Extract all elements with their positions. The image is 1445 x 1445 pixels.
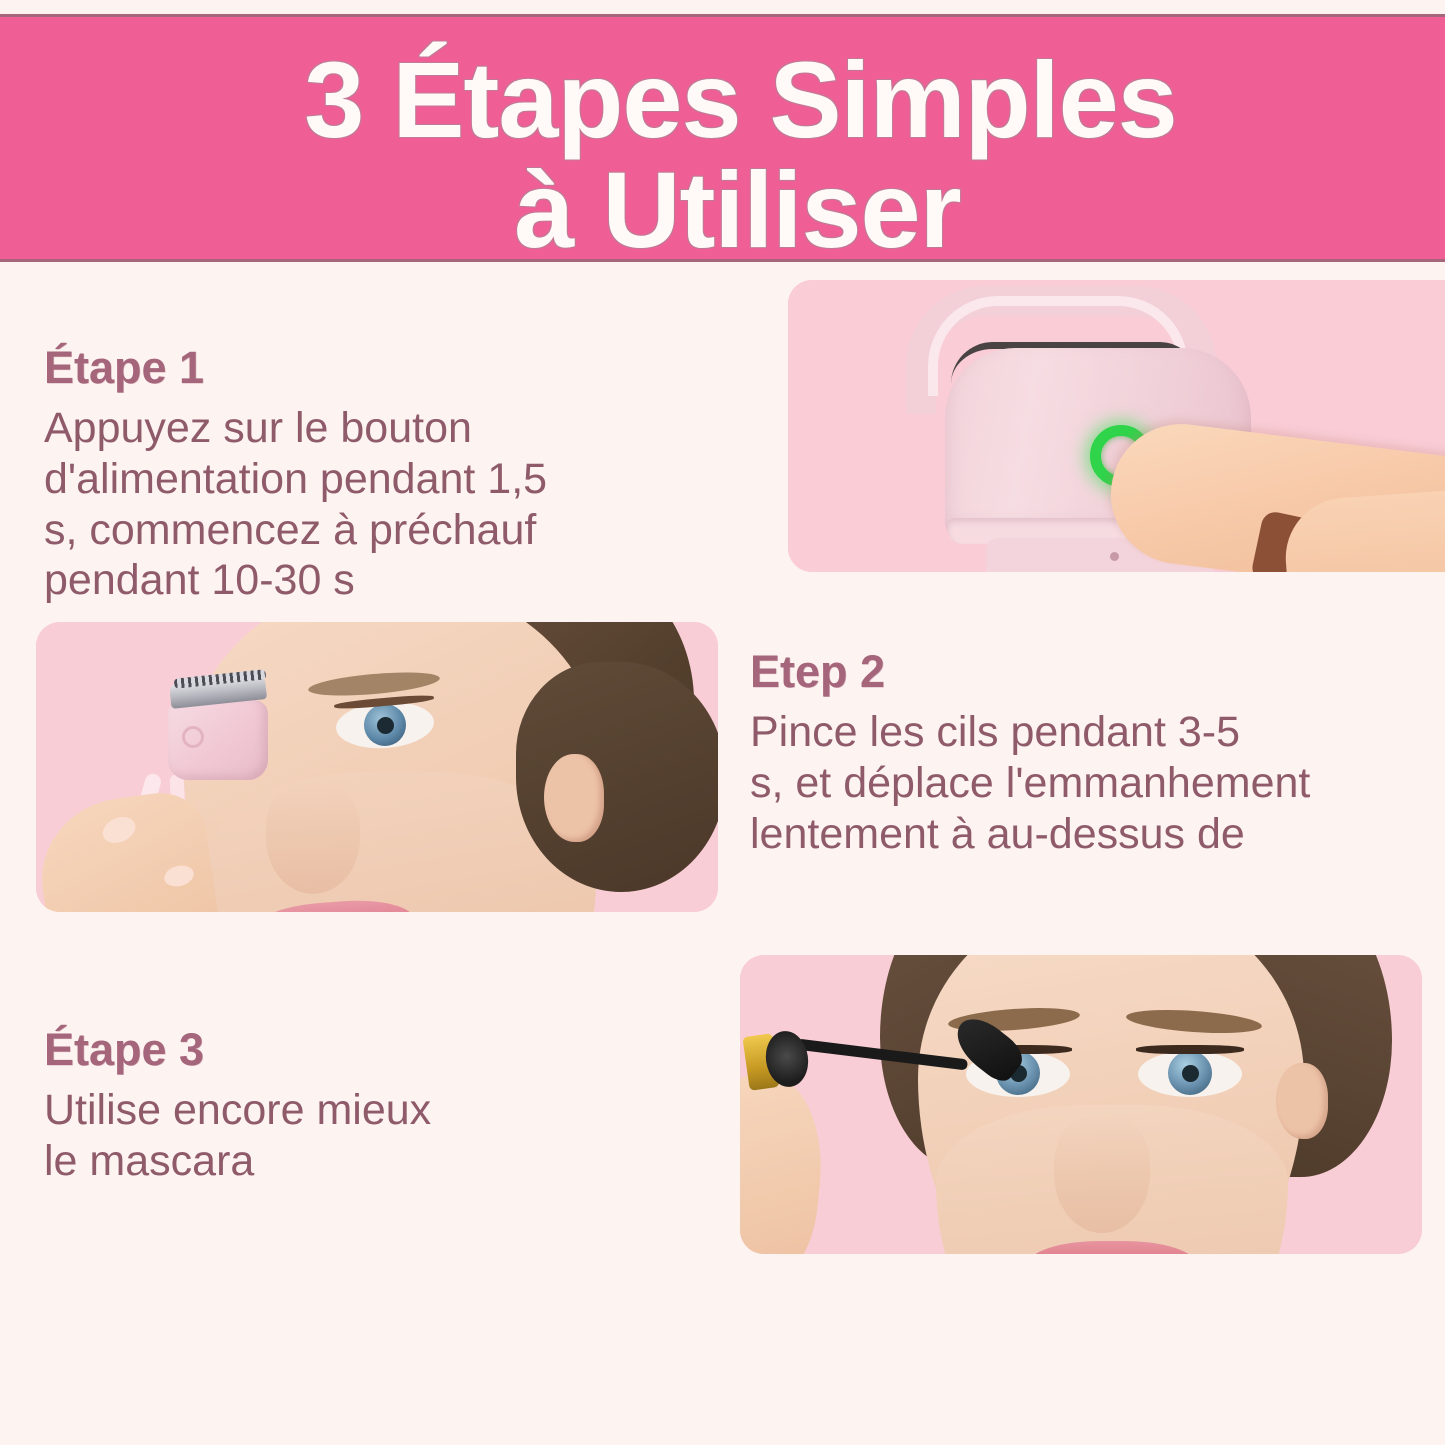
device-power-button-photo (788, 280, 1445, 572)
step-2-heading: Etep 2 (750, 648, 1445, 695)
step-1-photo-card (788, 280, 1445, 572)
woman-applying-mascara-photo (740, 955, 1422, 1254)
title-banner: 3 Étapes Simples à Utiliser (0, 14, 1445, 262)
step-3-body: Utilise encore mieux le mascara (44, 1085, 744, 1186)
infographic-page: 3 Étapes Simples à Utiliser Étape 1 Appu… (0, 0, 1445, 1445)
step-1-body: Appuyez sur le bouton d'alimentation pen… (44, 403, 834, 606)
title-banner-inner: 3 Étapes Simples à Utiliser (0, 17, 1445, 262)
curler-power-button (182, 726, 204, 748)
model-nose (266, 782, 360, 894)
step-3-heading: Étape 3 (44, 1026, 744, 1073)
step-1-heading: Étape 1 (44, 344, 834, 391)
step-2-text-block: Etep 2 Pince les cils pendant 3-5 s, et … (750, 648, 1445, 859)
step-2-photo-card (36, 622, 718, 912)
top-margin-strip (0, 0, 1445, 14)
model-lash-line-right (1136, 1045, 1244, 1054)
model-pupil-right (1182, 1065, 1199, 1082)
model-pupil (377, 717, 394, 734)
banner-title-line-2: à Utiliser (30, 155, 1445, 262)
model-ear (1276, 1063, 1328, 1139)
device-base-dot (1110, 552, 1119, 561)
step-1-text-block: Étape 1 Appuyez sur le bouton d'alimenta… (44, 344, 834, 606)
model-nose (1054, 1115, 1150, 1233)
model-ear (544, 754, 604, 842)
step-2-body: Pince les cils pendant 3-5 s, et déplace… (750, 707, 1445, 859)
woman-using-curler-photo (36, 622, 718, 912)
step-3-photo-card (740, 955, 1422, 1254)
step-3-text-block: Étape 3 Utilise encore mieux le mascara (44, 1026, 744, 1187)
banner-title-line-1: 3 Étapes Simples (36, 45, 1445, 155)
